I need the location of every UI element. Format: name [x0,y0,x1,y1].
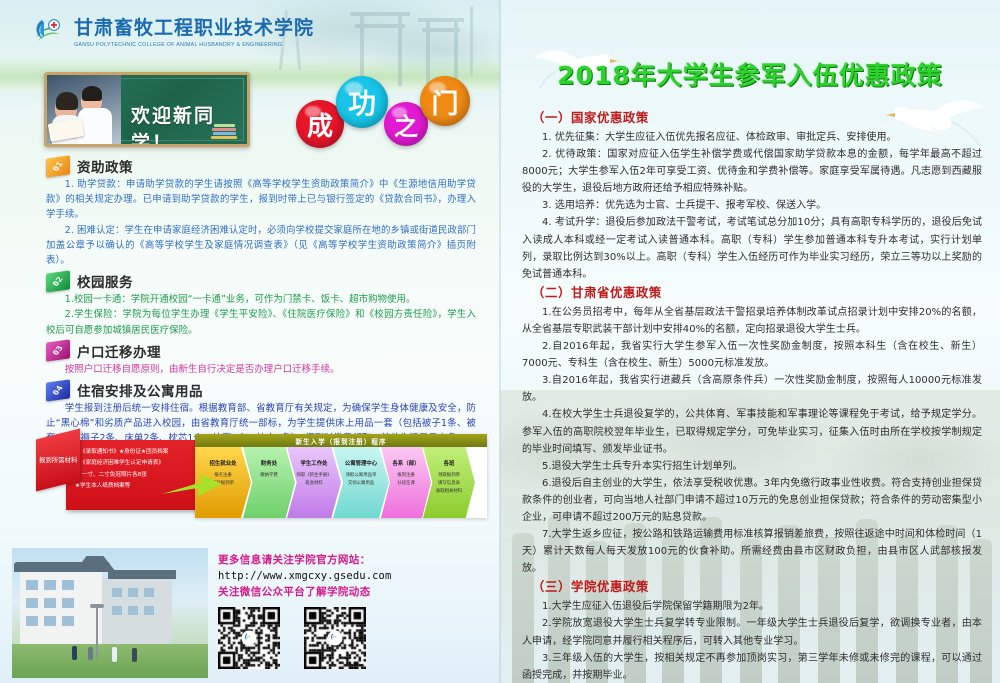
bubble-char: 功 [348,82,376,122]
section-number: 04 [51,384,65,396]
flow-step-student-affairs: 学生工作处 领取《新生手册》 班会材料 [287,447,341,518]
policy-paragraph: 5.退役大学生士兵专升本实行招生计划单列。 [522,458,982,475]
policy-section-gansu: （二）甘肃省优惠政策 1.在公务员招考中，每年从全省基层政法干警招录培养体制改革… [522,283,982,578]
wechat-prompt: 关注微信公众平台了解学院动态 [218,584,484,600]
wechat-qr-code-2 [304,607,366,669]
policy-paragraph: 2. 优待政策：国家对应征入伍学生补偿学费或代偿国家助学贷款本息的金额，每学年最… [522,146,982,197]
campus-lawn [12,644,208,678]
flow-step-line: 报到注册 [397,472,415,480]
section-badge-01: 01 [46,155,70,177]
section-household-transfer: 03 户口迁移办理 按照户口迁移自愿原则，由新生自行决定是否办理户口迁移手续。 [46,340,476,377]
section-heading: （一）国家优惠政策 [532,108,982,126]
material-item: ★《录取通知书》★身份证★团员档案 [75,447,205,458]
website-url[interactable]: http://www.xmgcxy.gsedu.com [218,568,484,584]
reed-decor [470,6,473,76]
section-title: 户口迁移办理 [77,341,161,361]
flow-step-label: 公寓管理中心 [345,459,377,467]
success-gate-bubbles: 成 功 之 门 [292,74,472,154]
flowchart-title: 新生入学（报到注册）程序 [195,434,487,447]
section-title: 校园服务 [77,271,133,291]
policy-paragraph: 3.自2016年起，我省实行进藏兵（含高原条件兵）一次性奖励金制度，按照每人10… [522,372,982,406]
policy-section-college: （三）学院优惠政策 1.大学生应征入伍退役后学院保留学籍期限为2年。 2.学院放… [522,577,982,683]
students-photo [47,75,121,144]
section-number: 02 [51,275,65,287]
bubble-char: 成 [307,106,333,143]
flow-step-line: 分班任课 [397,480,415,488]
flow-step-line: 填写信息表 [438,480,460,488]
college-name-en: GANSU POLYTECHNIC COLLEGE OF ANIMAL HUSB… [74,42,314,48]
policy-section-national: （一）国家优惠政策 1. 优先征集：大学生应征入伍优先报名应征、体检政审、审批定… [522,108,982,283]
section-body: 1. 助学贷款：申请助学贷款的学生请按照《高等学校学生资助政策简介》中《生源地信… [46,177,476,268]
section-badge-04: 04 [46,379,70,401]
ribbon-text: 报到所需材料 [39,456,77,465]
flow-step-label: 各系（部） [393,459,420,467]
policy-paragraph: 2.自2016年起，我省实行大学生参军入伍一次性奖励金制度，按照本科生（含在校生… [522,338,982,372]
policy-paragraph: 1. 优先征集：大学生应征入伍优先报名应征、体检政审、审批定兵、安排使用。 [522,129,982,146]
section-title: 住宿安排及公寓用品 [77,380,203,400]
page-fold-divider [499,0,501,683]
section-badge-03: 03 [46,340,70,362]
policy-paragraph: 1.在公务员招考中，每年从全省基层政法干警招录培养体制改革试点招录计划中安排20… [522,304,982,338]
flow-step-line: 班会材料 [305,480,323,488]
wechat-qr-code-1 [218,607,280,669]
college-logo: 甘肃畜牧工程职业技术学院 GANSU POLYTECHNIC COLLEGE O… [32,16,314,50]
flow-step-line: 领取公寓用品单 [346,472,377,480]
flowchart-steps: 招生就业处 报名注册 交验报到单 财务处 缴纳学费 学生工作处 领取《新生手册》… [195,447,487,518]
flow-step-line: 交领公寓用品 [348,480,374,488]
section-campus-service: 02 校园服务 1.校园一卡通：学院开通校园“一卡通”业务，可作为门禁卡、饭卡、… [46,270,476,338]
section-paragraph: 1.校园一卡通：学院开通校园“一卡通”业务，可作为门禁卡、饭卡、超市购物使用。 [46,292,476,307]
section-number: 01 [51,160,65,172]
college-name-cn: 甘肃畜牧工程职业技术学院 [74,19,314,38]
policy-paragraph: 7.大学生返乡应征，按公路和铁路运输费用标准核算报销差旅费，按照往返途中时间和体… [522,526,982,577]
section-badge-02: 02 [46,270,70,292]
materials-ribbon-label: 报到所需材料 [36,429,80,492]
section-funding-policy: 01 资助政策 1. 助学贷款：申请助学贷款的学生请按照《高等学校学生资助政策简… [46,155,476,268]
qr-code-row [218,607,484,669]
section-paragraph: 2. 困难认定：学生在申请家庭经济困难认定时，必须向学校提交家庭所在地的乡镇或街… [46,223,476,269]
section-header: 04 住宿安排及公寓用品 [46,379,476,401]
page-title: 2018年大学生参军入伍优惠政策 [500,56,1000,92]
qr-center-logo-icon [328,631,343,646]
policy-paragraph: 1.大学生应征入伍退役后学院保留学籍期限为2年。 [522,598,982,615]
bubble-char: 门 [432,82,459,121]
policy-paragraph: 6.退役后自主创业的大学生，依法享受税收优惠。3年内免缴行政事业性收费。符合支持… [522,475,982,526]
flow-step-label: 财务处 [261,459,277,467]
policy-paragraph: 2.学院放宽退役大学生士兵复学转专业限制。一年级大学生士兵退役后复学，欲调换专业… [522,615,982,649]
info-sections: 01 资助政策 1. 助学贷款：申请助学贷款的学生请按照《高等学校学生资助政策简… [46,155,476,449]
section-heading: （二）甘肃省优惠政策 [532,283,982,301]
website-prompt: 更多信息请关注学院官方网站： [218,552,484,568]
material-item: ★《家庭经济困难学生认定申请表》 [75,458,205,469]
flow-arrow-icon [162,472,224,502]
flow-step-line: 收取相关材料 [436,488,462,496]
section-body: 1.校园一卡通：学院开通校园“一卡通”业务，可作为门禁卡、饭卡、超市购物使用。 … [46,292,476,338]
section-paragraph: 按照户口迁移自愿原则，由新生自行决定是否办理户口迁移手续。 [46,362,476,377]
section-header: 01 资助政策 [46,155,476,177]
flow-step-line: 领取《新生手册》 [296,472,331,480]
flow-step-line: 缴纳学费 [260,472,278,480]
bubble-men: 门 [420,76,470,126]
left-page: 甘肃畜牧工程职业技术学院 GANSU POLYTECHNIC COLLEGE O… [0,0,500,683]
campus-building-photo [12,548,208,678]
flow-step-label: 各班 [444,459,455,467]
qr-center-logo-icon [242,631,257,646]
policy-paragraph: 4.在校大学生士兵退役复学的，公共体育、军事技能和军事理论等课程免于考试，给予规… [522,406,982,457]
flow-step-line: 领取报到单 [438,472,460,480]
brochure-spread: 甘肃畜牧工程职业技术学院 GANSU POLYTECHNIC COLLEGE O… [0,0,1000,683]
flow-step-label: 学生工作处 [301,459,328,467]
welcome-blackboard: 欢迎新同学！ [44,72,250,147]
books-decor [211,121,241,139]
policy-paragraph: 3. 选用培养：优先选为士官、士兵提干、报考军校、保送入学。 [522,197,982,214]
right-page: 2018年大学生参军入伍优惠政策 （一）国家优惠政策 1. 优先征集：大学生应征… [500,0,1000,683]
flow-step-dorm-center: 公寓管理中心 领取公寓用品单 交领公寓用品 [333,447,389,518]
section-paragraph: 2.学生保险：学院为每位学生办理《学生平安险》、《住院医疗保险》和《校园方责任险… [46,307,476,337]
flow-step-label: 招生就业处 [210,459,237,467]
section-body: 按照户口迁移自愿原则，由新生自行决定是否办理户口迁移手续。 [46,362,476,377]
enrollment-flowchart: 新生入学（报到注册）程序 招生就业处 报名注册 交验报到单 财务处 缴纳学费 学… [195,434,487,518]
bubble-gong: 功 [336,76,388,128]
contact-block: 更多信息请关注学院官方网站： http://www.xmgcxy.gsedu.c… [218,552,484,669]
policy-content: （一）国家优惠政策 1. 优先征集：大学生应征入伍优先报名应征、体检政审、审批定… [522,108,982,683]
bubble-char: 之 [394,107,418,142]
section-number: 03 [51,345,65,357]
section-heading: （三）学院优惠政策 [532,577,982,595]
enrollment-flow-zone: ★《录取通知书》★身份证★团员档案 ★《家庭经济困难学生认定申请表》 ★ 一寸、… [36,432,488,524]
section-paragraph: 1. 助学贷款：申请助学贷款的学生请按照《高等学校学生资助政策简介》中《生源地信… [46,177,476,223]
section-title: 资助政策 [77,156,133,176]
policy-paragraph: 3.三年级入伍的大学生，按相关规定不再参加顶岗实习，第三学年未修或未修完的课程，… [522,650,982,683]
section-header: 03 户口迁移办理 [46,340,476,362]
college-crest-icon [32,16,66,50]
section-header: 02 校园服务 [46,270,476,292]
policy-paragraph: 4. 考试升学：退役后参加政法干警考试，考试笔试总分加10分；具有高职专科学历的… [522,214,982,282]
